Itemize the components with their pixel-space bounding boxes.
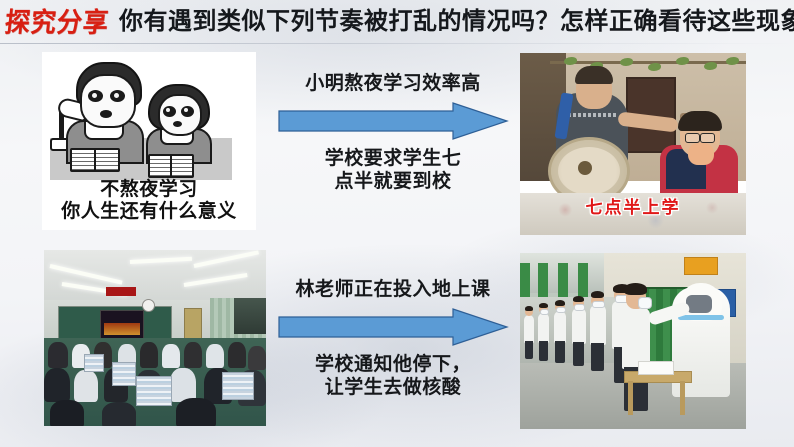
face-mask-icon (592, 301, 605, 308)
row-bottom-middle-column: 林老师正在投入地上课 学校通知他停下， 让学生去做核酸 (268, 278, 518, 400)
student-hair (573, 296, 584, 302)
classroom-window (234, 298, 266, 334)
stacked-books (136, 376, 172, 406)
queued-student (538, 313, 549, 343)
student-silhouette (248, 346, 266, 370)
student-silhouette (162, 344, 180, 368)
student-silhouette (50, 400, 84, 426)
student-hair (591, 291, 604, 298)
meme-caption-line-1: 不熬夜学习 (42, 178, 256, 200)
character-one-face (80, 74, 136, 128)
tshirt-print (568, 113, 616, 117)
study-meme-image: 不熬夜学习 你人生还有什么意义 (42, 52, 256, 230)
queued-student (554, 311, 566, 343)
student-legs (573, 342, 584, 366)
student-silhouette (102, 402, 136, 426)
slide-canvas: 探究分享 你有遇到类似下列节奏被打乱的情况吗？怎样正确看待这些现象 (0, 0, 794, 447)
classroom-door (184, 308, 202, 340)
meme-caption-line-2: 你人生还有什么意义 (42, 200, 256, 222)
stacked-books (222, 372, 254, 400)
photo-caption: 七点半上学 (520, 193, 746, 218)
page-title: 你有遇到类似下列节奏被打乱的情况吗？怎样正确看待这些现象 (119, 10, 794, 34)
student-silhouette (206, 344, 224, 368)
face-shield-icon (686, 295, 712, 313)
character-two-pupil-left (166, 108, 170, 112)
character-two-eye-left (163, 106, 176, 117)
clock-center (578, 161, 592, 175)
adult-hair (575, 66, 613, 84)
child-hand (688, 143, 714, 165)
meme-artwork (42, 52, 256, 180)
row-bottom-arrow (277, 307, 509, 347)
row-top-above-arrow-text: 小明熬夜学习效率高 (305, 72, 481, 95)
student-legs (525, 341, 533, 359)
section-badge: 探究分享 (4, 8, 111, 35)
test-kit-box (638, 361, 674, 375)
right-arrow-icon (277, 307, 509, 347)
face-mask-icon (638, 297, 652, 309)
glasses-left-lens (685, 133, 700, 143)
child-hair (678, 111, 722, 131)
front-student (622, 307, 650, 369)
queued-student (590, 305, 606, 345)
character-one-mouth (100, 110, 112, 118)
glasses-right-lens (700, 133, 715, 143)
desk-leg (680, 381, 685, 415)
student-silhouette (228, 342, 246, 368)
face-mask-icon (556, 307, 566, 313)
row-top-arrow (277, 101, 509, 141)
student-silhouette (176, 398, 216, 426)
row-top-below-arrow-line-1: 学校要求学生七 (325, 147, 462, 170)
student-silhouette (140, 342, 158, 368)
open-book-icon (70, 148, 120, 172)
character-one-pupil-right (114, 93, 119, 98)
student-hair (555, 300, 565, 306)
face-mask-icon (574, 304, 585, 311)
student-legs (539, 341, 548, 361)
wall-banner (106, 287, 136, 296)
character-two-mouth (173, 121, 182, 127)
student-legs (555, 341, 565, 363)
classroom-photo (44, 250, 266, 426)
projection-screen (100, 310, 144, 339)
character-two-pupil-right (184, 108, 188, 112)
queued-student (524, 315, 534, 343)
row-bottom-below-arrow-line-2: 让学生去做核酸 (325, 376, 462, 399)
character-two-eye-right (181, 106, 194, 117)
front-student-hair (624, 283, 647, 295)
slide-header: 探究分享 你有遇到类似下列节奏被打乱的情况吗？怎样正确看待这些现象 (0, 0, 794, 44)
face-mask-icon (540, 309, 549, 315)
student-legs (591, 343, 604, 371)
right-arrow-icon (277, 101, 509, 141)
wall-poster (684, 257, 718, 275)
row-bottom-below-arrow-line-1: 学校通知他停下， (315, 353, 471, 376)
ear-pull-photo: 七点半上学 (520, 53, 746, 235)
row-top-below-arrow-line-2: 点半就要到校 (334, 170, 451, 193)
wall-clock-icon (142, 299, 155, 312)
row-bottom-above-arrow-text: 林老师正在投入地上课 (295, 278, 490, 301)
student-silhouette (48, 342, 68, 368)
meme-caption: 不熬夜学习 你人生还有什么意义 (42, 178, 256, 222)
covid-testing-photo (520, 253, 746, 429)
student-silhouette (74, 370, 98, 402)
student-hair (525, 306, 533, 311)
suit-blue-band (678, 315, 724, 320)
student-silhouette (170, 368, 196, 402)
stacked-books (84, 354, 104, 372)
stacked-books (112, 362, 136, 386)
student-hair (539, 303, 548, 308)
student-silhouette (44, 368, 70, 402)
header-divider (0, 43, 794, 44)
row-top-middle-column: 小明熬夜学习效率高 学校要求学生七 点半就要到校 (268, 72, 518, 194)
open-book-icon (148, 154, 194, 178)
student-silhouette (184, 342, 202, 368)
queued-student (572, 308, 586, 344)
desk-leg (628, 381, 633, 415)
character-one-pupil-left (92, 93, 97, 98)
